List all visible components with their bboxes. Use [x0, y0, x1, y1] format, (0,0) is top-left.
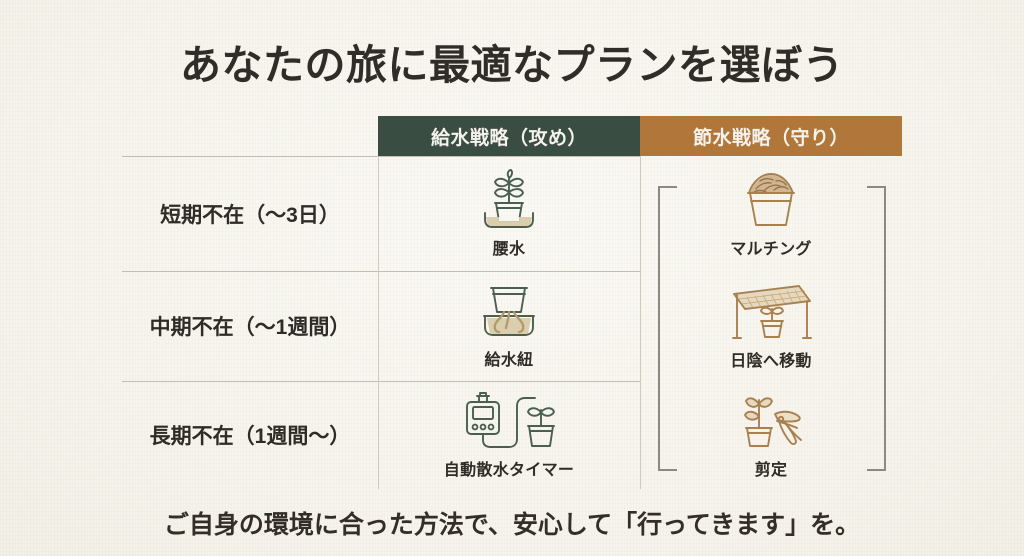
cell-label: 給水紐 — [485, 346, 534, 370]
slide-canvas: あなたの旅に最適なプランを選ぼう 給水戦略（攻め） 節水戦略（守り） 短期不在（… — [0, 0, 1024, 556]
potted-plant-in-water-tray-icon — [468, 169, 550, 231]
cell-medium-absence-saving: 日陰へ移動 — [640, 271, 902, 381]
cell-short-absence-saving: マルチング — [640, 156, 902, 271]
row-label-text: 長期不在（1週間〜） — [150, 420, 351, 450]
cell-medium-absence-supply: 給水紐 — [378, 271, 640, 381]
cell-label: 日陰へ移動 — [730, 347, 812, 371]
column-header-label: 給水戦略（攻め） — [431, 123, 587, 150]
row-label-text: 中期不在（〜1週間） — [150, 311, 351, 341]
plant-with-pruning-shears-icon — [723, 390, 819, 452]
cell-label: 自動散水タイマー — [444, 456, 574, 480]
grouping-bracket-left — [658, 186, 677, 471]
page-title: あなたの旅に最適なプランを選ぼう — [0, 31, 1024, 91]
cell-long-absence-saving: 剪定 — [640, 381, 902, 489]
grouping-bracket-right — [867, 186, 886, 471]
column-header-supply-strategy: 給水戦略（攻め） — [378, 116, 640, 156]
row-label-short-absence: 短期不在（〜3日） — [122, 156, 378, 271]
row-label-long-absence: 長期不在（1週間〜） — [122, 381, 378, 489]
cell-long-absence-supply: 自動散水タイマー — [378, 381, 640, 489]
pot-with-mulch-icon — [730, 169, 812, 231]
cell-short-absence-supply: 腰水 — [378, 156, 640, 271]
cell-label: マルチング — [730, 235, 812, 259]
footer-caption: ご自身の環境に合った方法で、安心して「行ってきます」を。 — [0, 505, 1024, 541]
wick-watering-basin-icon — [468, 282, 550, 342]
cell-label: 剪定 — [755, 456, 788, 480]
watering-timer-device-icon — [453, 390, 565, 452]
plant-under-shade-canopy-icon — [723, 281, 819, 343]
column-header-label: 節水戦略（守り） — [693, 123, 849, 150]
row-label-medium-absence: 中期不在（〜1週間） — [122, 271, 378, 381]
cell-label: 腰水 — [493, 235, 526, 259]
column-header-saving-strategy: 節水戦略（守り） — [640, 116, 902, 156]
row-label-text: 短期不在（〜3日） — [160, 199, 340, 229]
